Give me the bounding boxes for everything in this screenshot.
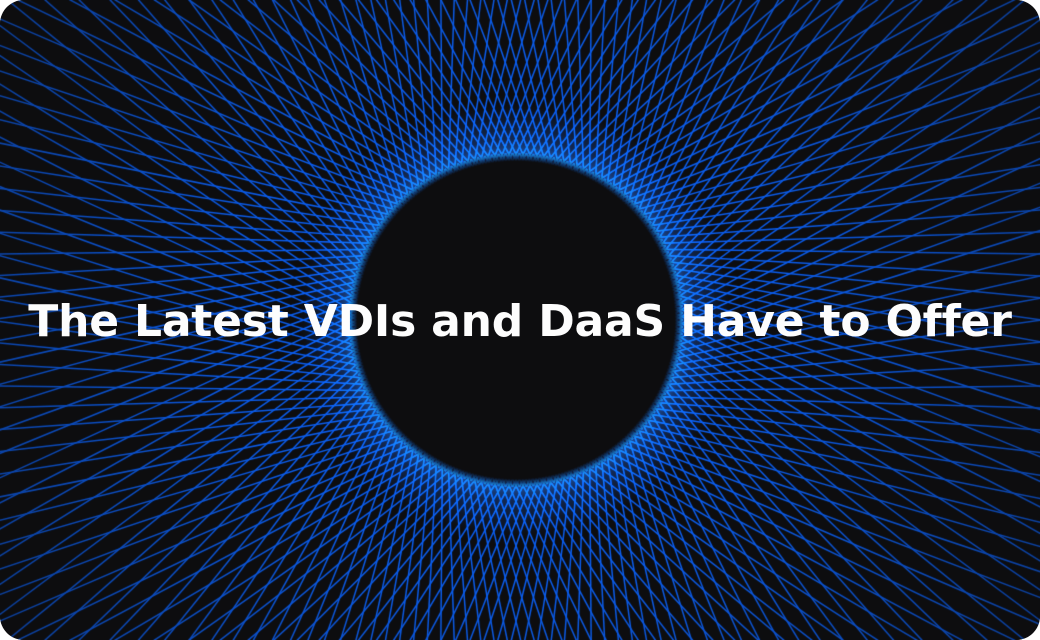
spirograph-background-artwork <box>0 0 1040 640</box>
hero-banner: The Latest VDIs and DaaS Have to Offer <box>0 0 1040 640</box>
